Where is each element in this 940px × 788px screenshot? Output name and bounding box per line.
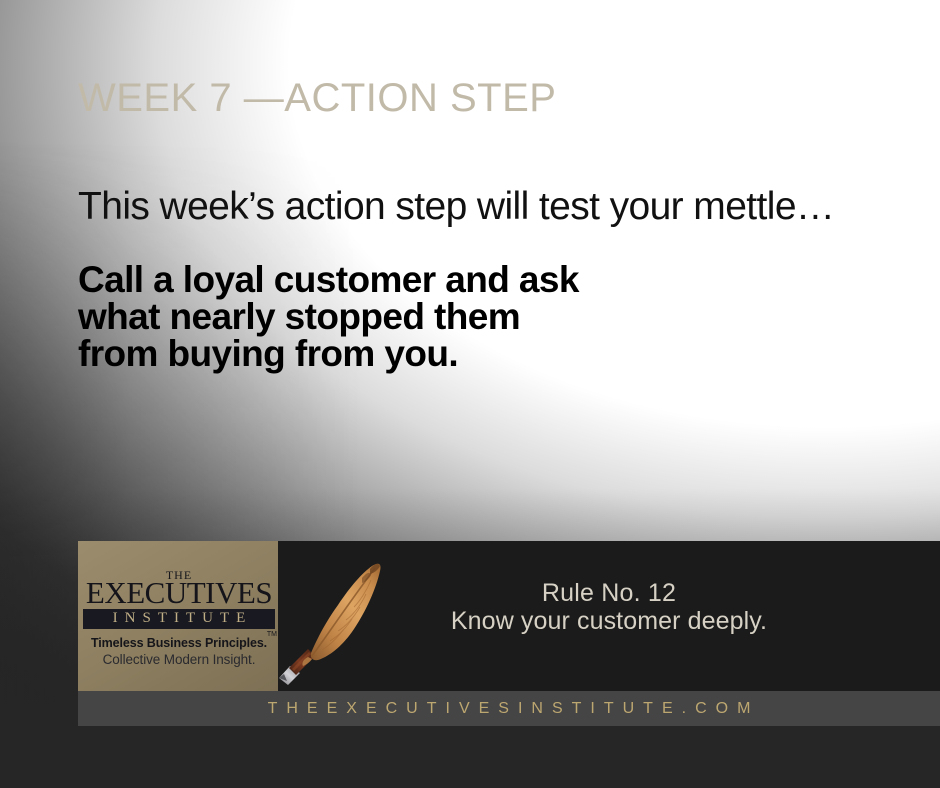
brand-logo: THE EXECUTIVES INSTITUTE TM Timeless Bus… [83,569,275,667]
bottom-strip [0,726,940,788]
rule-block: Rule No. 12 Know your customer deeply. [278,579,940,635]
trademark-symbol: TM [267,631,277,638]
slide-canvas: WEEK 7 —ACTION STEP This week’s action s… [0,0,940,788]
directive-line-3: from buying from you. [78,335,579,372]
directive-headline: Call a loyal customer and ask what nearl… [78,261,579,372]
logo-institute-box: INSTITUTE TM [83,609,275,630]
directive-line-1: Call a loyal customer and ask [78,261,579,298]
website-url-bar[interactable]: THEEXECUTIVESINSTITUTE.COM [78,691,940,726]
brand-logo-panel: THE EXECUTIVES INSTITUTE TM Timeless Bus… [78,541,278,691]
logo-institute-text: INSTITUTE [83,611,275,627]
directive-line-2: what nearly stopped them [78,298,579,335]
lede-paragraph: This week’s action step will test your m… [78,185,834,229]
footer-band: THE EXECUTIVES INSTITUTE TM Timeless Bus… [78,541,940,691]
eyebrow-heading: WEEK 7 —ACTION STEP [78,76,556,121]
logo-executives-text: EXECUTIVES [83,579,275,608]
logo-tagline-light: Collective Modern Insight. [83,652,275,667]
logo-tagline-bold: Timeless Business Principles. [83,636,275,650]
rule-number: Rule No. 12 [278,579,940,607]
website-url-text: THEEXECUTIVESINSTITUTE.COM [78,700,940,718]
rule-statement: Know your customer deeply. [278,607,940,635]
